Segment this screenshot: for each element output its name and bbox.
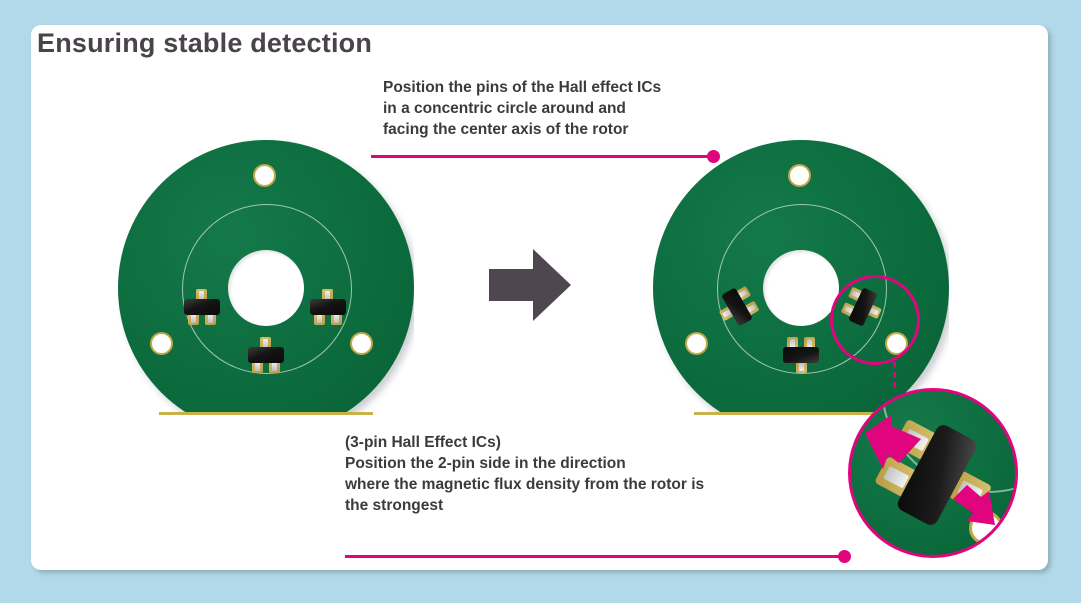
hall-ic-left xyxy=(180,288,224,326)
pcb-mount-hole-top xyxy=(253,164,276,187)
callout-bottom-line4: the strongest xyxy=(345,495,704,516)
callout-bottom-leader-dot xyxy=(838,550,851,563)
hall-ic-bottom xyxy=(244,336,288,374)
callout-bottom-line2: Position the 2-pin side in the direction xyxy=(345,453,704,474)
ic-body xyxy=(184,299,220,315)
pcb-center-hole xyxy=(228,250,304,326)
callout-bottom-line3: where the magnetic flux density from the… xyxy=(345,474,704,495)
zoom-connector-dashed-line xyxy=(893,362,896,392)
pcb-chord-edge xyxy=(159,412,372,415)
pcb-mount-hole-right xyxy=(350,332,373,355)
callout-bottom: (3-pin Hall Effect ICs) Position the 2-p… xyxy=(345,432,704,516)
flux-direction-arrow-small-icon xyxy=(951,483,999,529)
callout-top-line1: Position the pins of the Hall effect ICs xyxy=(383,77,661,98)
hall-ic-right xyxy=(306,288,350,326)
callout-top-line3: facing the center axis of the rotor xyxy=(383,119,661,140)
page-title: Ensuring stable detection xyxy=(37,28,372,59)
hall-ic-bottom xyxy=(779,336,823,374)
pcb-before xyxy=(118,140,414,436)
callout-bottom-leader-line xyxy=(345,555,845,558)
step-arrow-icon xyxy=(487,245,573,325)
ic-body xyxy=(783,347,819,363)
callout-top: Position the pins of the Hall effect ICs… xyxy=(383,77,661,140)
ic-body xyxy=(248,347,284,363)
ic-body xyxy=(310,299,346,315)
flux-direction-arrow-large-icon xyxy=(861,413,927,475)
highlight-ring xyxy=(830,275,920,365)
callout-top-line2: in a concentric circle around and xyxy=(383,98,661,119)
magnified-hall-ic-inset xyxy=(848,388,1018,558)
pcb-mount-hole-left xyxy=(150,332,173,355)
pcb-center-hole xyxy=(763,250,839,326)
pcb-mount-hole-left xyxy=(685,332,708,355)
slide-stage: Ensuring stable detection Position the p… xyxy=(0,0,1081,603)
pcb-mount-hole-top xyxy=(788,164,811,187)
